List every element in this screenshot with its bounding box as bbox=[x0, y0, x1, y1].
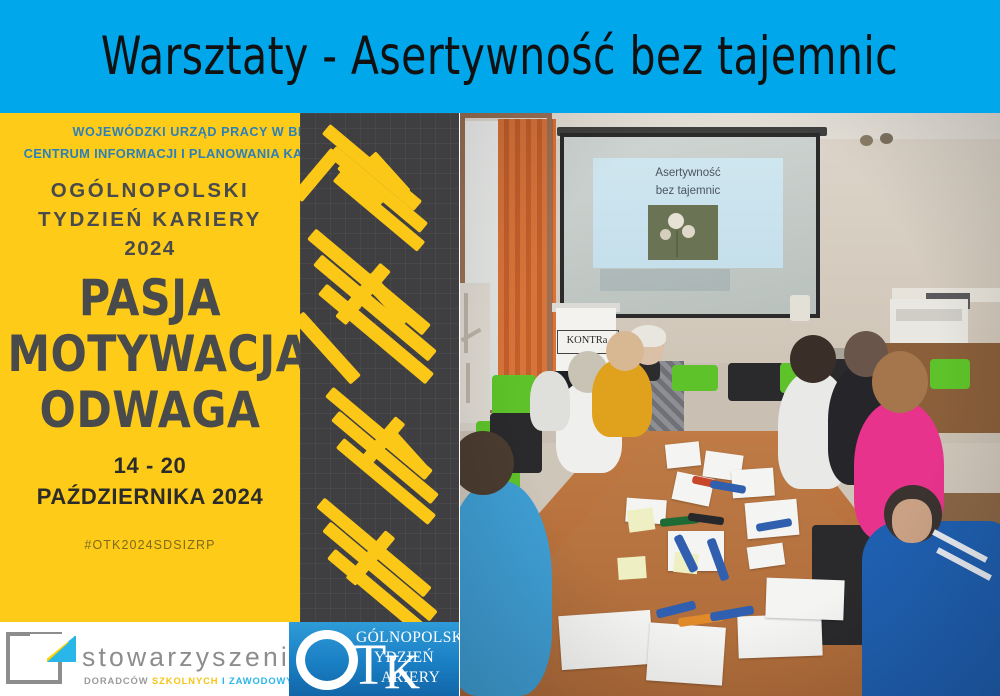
dates-line-2: PAŹDZIERNIKA 2024 bbox=[0, 481, 300, 512]
sticky-note bbox=[617, 556, 646, 580]
sticky-note bbox=[627, 507, 656, 532]
slide-flower-stem bbox=[676, 231, 678, 257]
sdsiz-logo: stowarzyszenie DORADCÓW SZKOLNYCH I ZAWO… bbox=[6, 630, 284, 692]
sdsiz-sub-2: SZKOLNYCH bbox=[152, 675, 222, 686]
document-page-icon bbox=[6, 632, 68, 688]
sdsiz-sub-1: DORADCÓW bbox=[84, 675, 152, 686]
otk-letter-o-icon bbox=[296, 630, 358, 690]
chair bbox=[930, 359, 970, 389]
wall-hook bbox=[860, 135, 873, 146]
slogan-line-1: PASJA bbox=[8, 270, 293, 326]
wall-speaker bbox=[790, 295, 810, 321]
participant-head bbox=[790, 335, 836, 383]
dates-line-1: 14 - 20 bbox=[0, 450, 300, 481]
slide-flower bbox=[668, 213, 684, 229]
event-year: 2024 bbox=[0, 234, 300, 264]
otk-pattern-glyph bbox=[300, 531, 434, 622]
otk-word-2: YDZIEŃ bbox=[356, 648, 459, 668]
slogan-block: PASJA MOTYWACJA ODWAGA bbox=[0, 270, 300, 438]
logo-footer: stowarzyszenie DORADCÓW SZKOLNYCH I ZAWO… bbox=[0, 622, 459, 696]
participant-head bbox=[606, 331, 644, 371]
paper-card bbox=[731, 468, 775, 499]
slide-footer-text bbox=[600, 269, 730, 291]
event-name-block: OGÓLNOPOLSKI TYDZIEŃ KARIERY 2024 bbox=[0, 176, 300, 264]
wall-hook bbox=[880, 133, 893, 144]
paper-sheet bbox=[646, 622, 726, 685]
slide-title-line-1: Asertywność bbox=[593, 167, 783, 179]
printer-tray bbox=[896, 309, 962, 321]
otk-logo: T K GÓLNOPOLSKI YDZIEŃ ARIERY bbox=[289, 622, 459, 696]
hashtag: #OTK2024SDSIZRP bbox=[0, 538, 300, 552]
participant-body bbox=[862, 521, 1000, 696]
dates-block: 14 - 20 PAŹDZIERNIKA 2024 bbox=[0, 450, 300, 512]
paper-sheet bbox=[765, 578, 844, 621]
wall-drawing bbox=[460, 283, 490, 423]
poster-page: Warsztaty - Asertywność bez tajemnic WOJ… bbox=[0, 0, 1000, 696]
otk-word-1: GÓLNOPOLSKI bbox=[356, 628, 459, 648]
otk-poster: WOJEWÓDZKI URZĄD PRACY W BIAŁYMSTOKU CEN… bbox=[0, 113, 459, 622]
sdsiz-wordmark: stowarzyszenie bbox=[82, 642, 308, 673]
content-area: WOJEWÓDZKI URZĄD PRACY W BIAŁYMSTOKU CEN… bbox=[0, 113, 1000, 696]
chair bbox=[728, 363, 784, 401]
chair bbox=[672, 365, 718, 391]
slide-flower bbox=[682, 225, 695, 238]
participant-head bbox=[872, 351, 928, 413]
slogan-line-2: MOTYWACJA bbox=[8, 326, 293, 382]
otk-word-3: ARIERY bbox=[356, 668, 459, 688]
slide-flower bbox=[660, 229, 671, 240]
otk-words: GÓLNOPOLSKI YDZIEŃ ARIERY bbox=[356, 628, 459, 688]
paper-card bbox=[665, 441, 701, 468]
participant-face bbox=[892, 499, 932, 543]
paper-sheet bbox=[737, 614, 822, 659]
decorative-band bbox=[300, 113, 459, 622]
workshop-photo: Asertywność bez tajemnic KONTRa bbox=[460, 113, 1000, 696]
event-line-1: OGÓLNOPOLSKI bbox=[0, 176, 300, 205]
paper-sheet bbox=[558, 610, 654, 670]
participant-body bbox=[460, 481, 552, 696]
slogan-line-3: ODWAGA bbox=[8, 382, 293, 438]
page-title: Warsztaty - Asertywność bez tajemnic bbox=[101, 26, 898, 87]
printer bbox=[890, 299, 968, 345]
header-banner: Warsztaty - Asertywność bez tajemnic bbox=[0, 0, 1000, 113]
event-line-2: TYDZIEŃ KARIERY bbox=[0, 205, 300, 234]
slide-title-line-2: bez tajemnic bbox=[593, 185, 783, 197]
participant-body bbox=[530, 371, 570, 431]
otk-pattern-glyph bbox=[300, 261, 430, 411]
